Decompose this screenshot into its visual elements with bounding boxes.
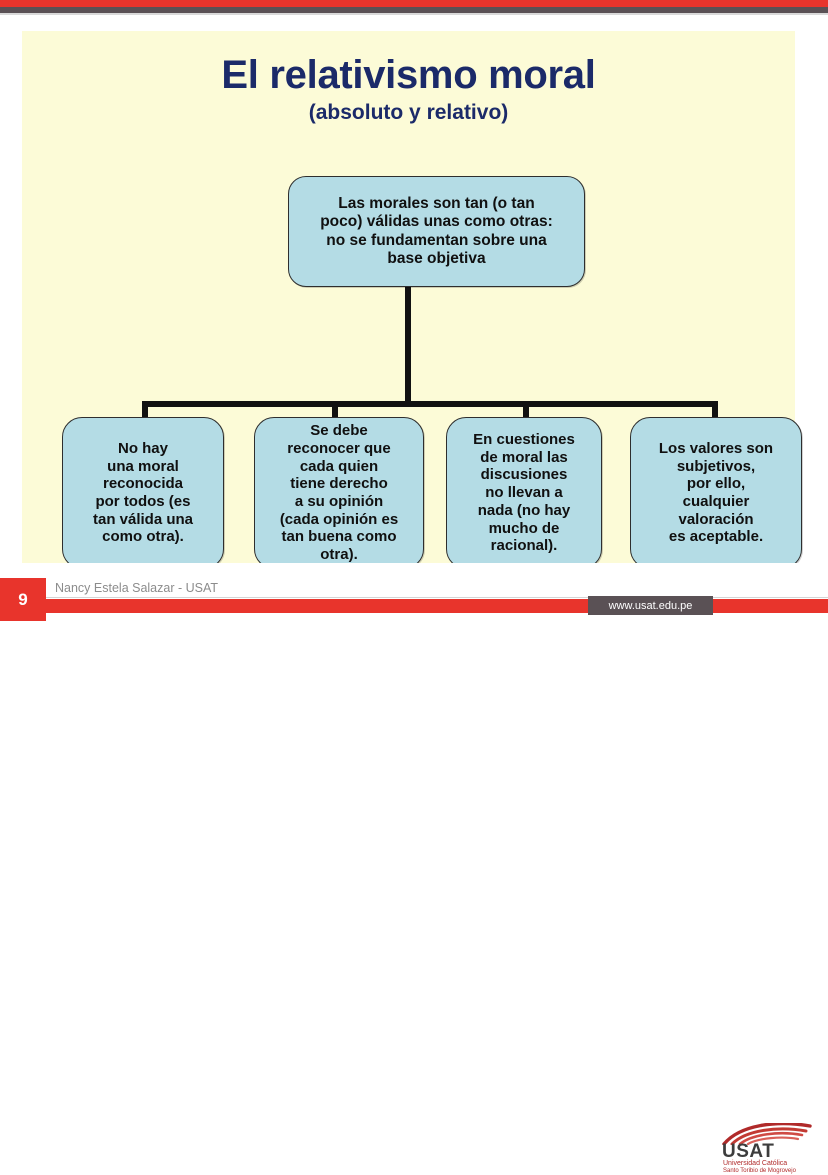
slide-footer: 9 Nancy Estela Salazar - USAT www.usat.e… (0, 563, 828, 621)
diagram-root-node: Las morales son tan (o tan poco) válidas… (288, 176, 585, 287)
top-red-bar (0, 0, 828, 7)
usat-logo: USAT Universidad Católica Santo Toribio … (718, 1123, 814, 1175)
page-subtitle: (absoluto y relativo) (22, 101, 795, 125)
footer-url-box[interactable]: www.usat.edu.pe (588, 596, 713, 615)
slide: El relativismo moral (absoluto y relativ… (0, 0, 828, 621)
diagram-leaf-node-2: Se debe reconocer que cada quien tiene d… (254, 417, 424, 569)
top-divider-line (0, 13, 828, 15)
page-number-block: 9 (0, 578, 46, 621)
diagram-leaf-node-3: En cuestiones de moral las discusiones n… (446, 417, 602, 569)
footer-url: www.usat.edu.pe (609, 600, 693, 612)
logo-subtitle-line1: Universidad Católica (723, 1160, 787, 1167)
diagram-leaf-node-1: No hay una moral reconocida por todos (e… (62, 417, 224, 569)
page-number: 9 (18, 591, 27, 608)
diagram-leaf-node-4: Los valores son subjetivos, por ello, cu… (630, 417, 802, 569)
footer-author: Nancy Estela Salazar - USAT (55, 581, 218, 595)
connector-vertical-main (405, 281, 411, 404)
logo-wordmark: USAT (722, 1142, 774, 1161)
connector-horizontal-bar (142, 401, 718, 407)
content-panel: El relativismo moral (absoluto y relativ… (22, 31, 795, 563)
page-title: El relativismo moral (22, 53, 795, 98)
logo-subtitle-line2: Santo Toribio de Mogrovejo (723, 1168, 796, 1174)
